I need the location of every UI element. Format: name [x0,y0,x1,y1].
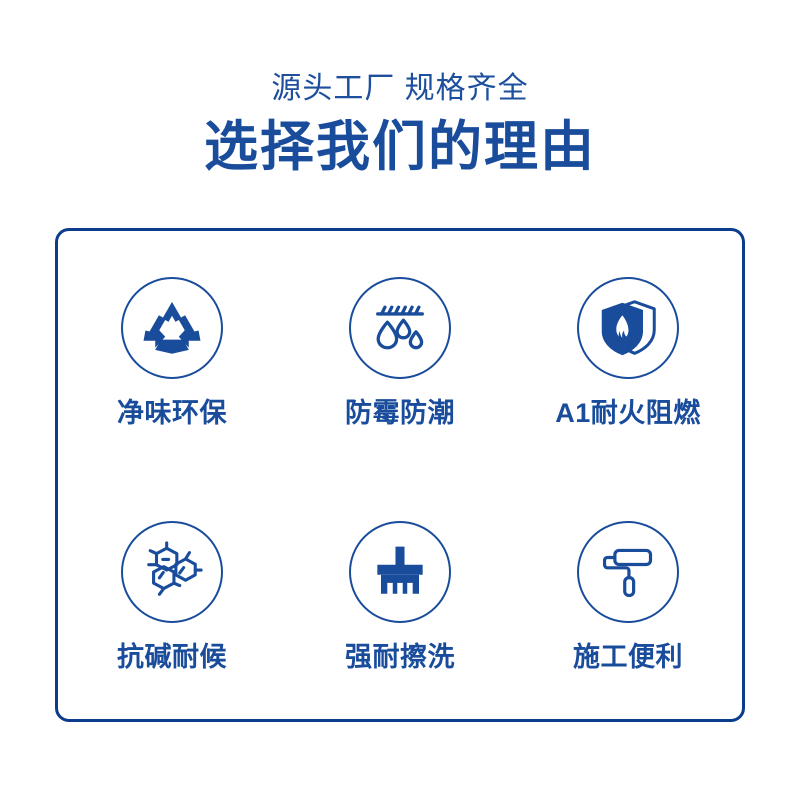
feature-item-moisture[interactable]: 防霉防潮 [286,277,514,429]
shield-flame-icon [598,298,658,358]
feature-grid: 净味环保 [58,231,742,719]
molecule-icon [141,541,203,603]
feature-item-scrubbable[interactable]: 强耐擦洗 [286,521,514,673]
page-subtitle: 源头工厂 规格齐全 [0,70,800,108]
feature-label: 施工便利 [573,641,683,673]
feature-item-recycle[interactable]: 净味环保 [58,277,286,429]
icon-circle [121,277,223,379]
feature-item-alkali-resistant[interactable]: 抗碱耐候 [58,521,286,673]
feature-label: 防霉防潮 [345,397,455,429]
feature-label: A1耐火阻燃 [555,397,701,429]
icon-circle [121,521,223,623]
water-drops-icon [369,297,431,359]
feature-item-fireproof[interactable]: A1耐火阻燃 [514,277,742,429]
recycle-icon [141,297,203,359]
icon-circle [577,521,679,623]
feature-box: 净味环保 [55,228,745,722]
feature-item-easy-application[interactable]: 施工便利 [514,521,742,673]
feature-label: 抗碱耐候 [117,641,227,673]
feature-label: 强耐擦洗 [345,641,455,673]
icon-circle [577,277,679,379]
paint-roller-icon [598,542,658,602]
page-title: 选择我们的理由 [0,116,800,178]
icon-circle [349,277,451,379]
scrub-brush-icon [371,543,429,601]
page-header: 源头工厂 规格齐全 选择我们的理由 [0,0,800,178]
feature-label: 净味环保 [117,397,227,429]
icon-circle [349,521,451,623]
